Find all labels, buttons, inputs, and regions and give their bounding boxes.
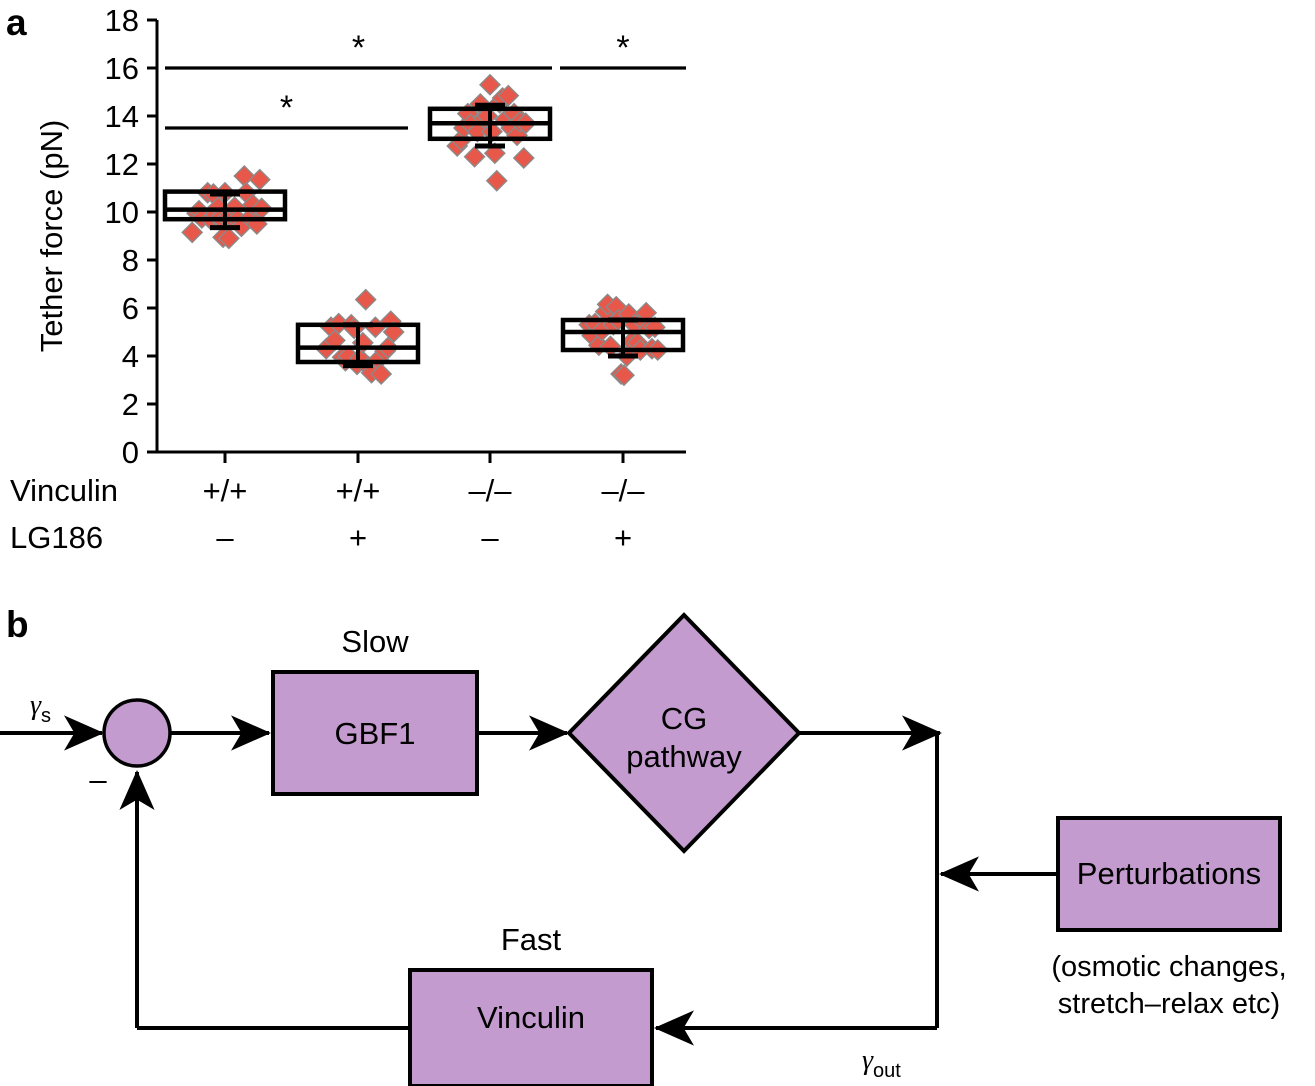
summing-junction-node	[104, 700, 170, 766]
fast-label: Fast	[501, 922, 562, 957]
panel-letter-a: a	[6, 2, 27, 44]
vinculin-label: Vinculin	[477, 1000, 585, 1035]
cg-pathway-label-line2: pathway	[626, 739, 742, 774]
gbf1-label: GBF1	[335, 716, 416, 751]
perturbations-caption-line1: (osmotic changes,	[1051, 951, 1286, 983]
figure-root: 024681012141618Tether force (pN)***Vincu…	[0, 0, 1315, 1086]
gamma-out-label: γout	[862, 1045, 901, 1082]
slow-label: Slow	[341, 624, 409, 659]
summing-minus-sign: –	[89, 762, 107, 797]
perturbations-caption-line2: stretch–relax etc)	[1058, 988, 1280, 1020]
gamma-s-label: γs	[30, 690, 51, 727]
panel-b-diagram: GBF1SlowCGpathwayVinculinFastPerturbatio…	[0, 0, 1315, 1086]
perturbations-label: Perturbations	[1077, 856, 1261, 891]
panel-letter-b: b	[6, 604, 29, 646]
cg-pathway-label-line1: CG	[661, 701, 708, 736]
